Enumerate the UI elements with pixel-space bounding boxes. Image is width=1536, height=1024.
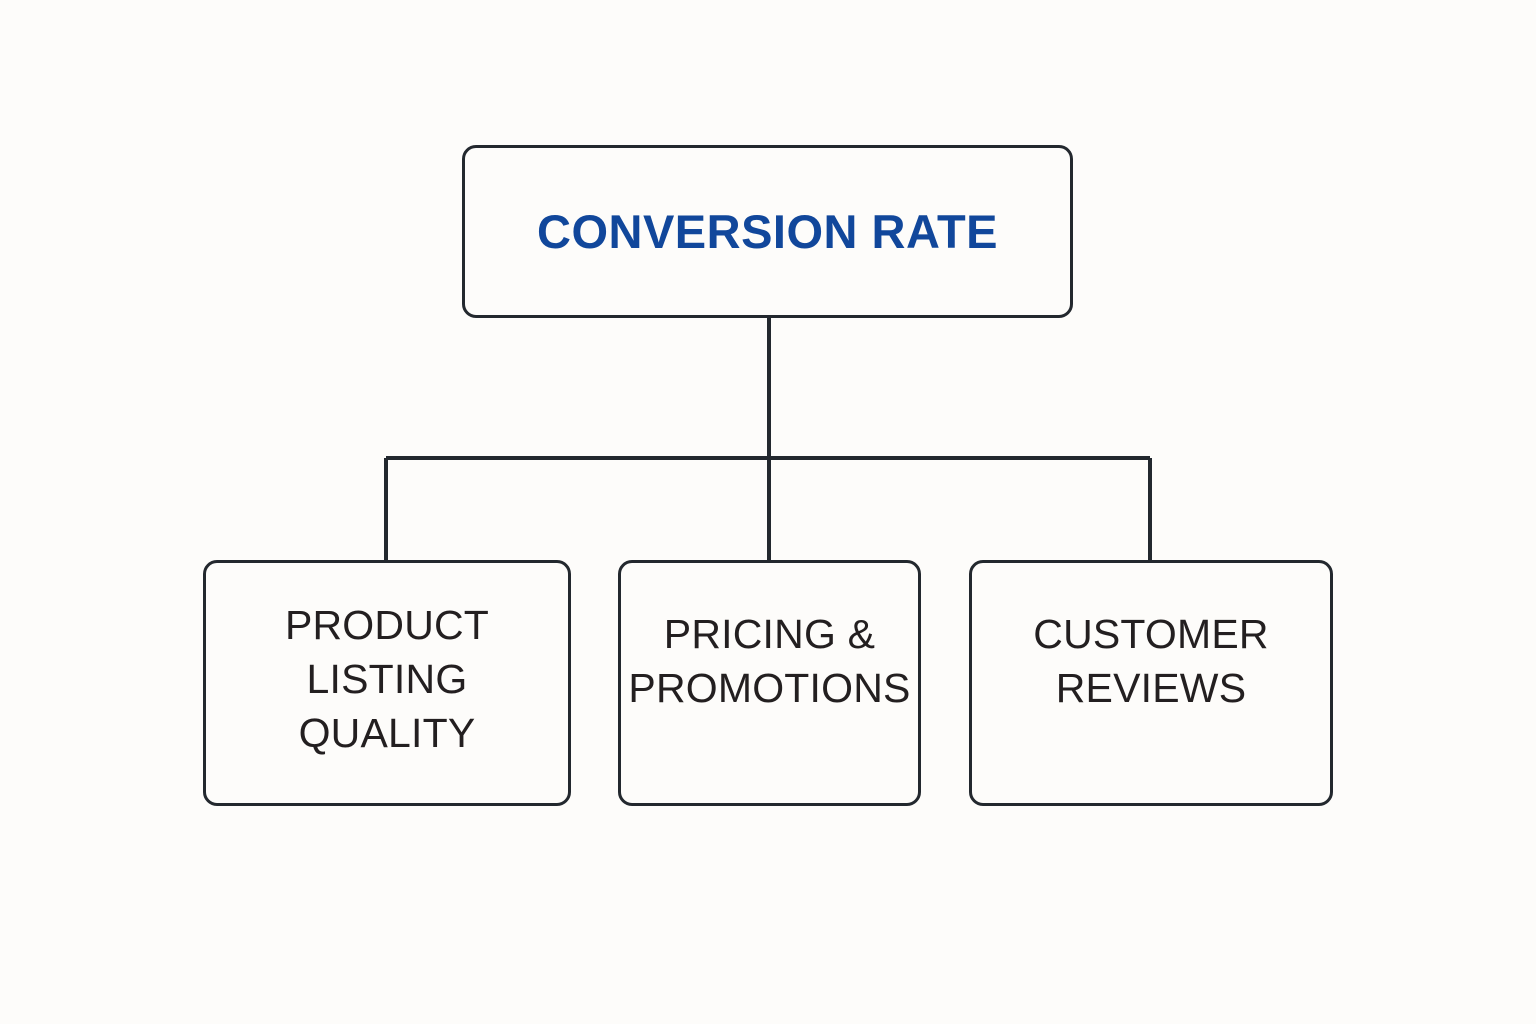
node-product-listing-quality-label: PRODUCT LISTING QUALITY (285, 598, 489, 760)
node-customer-reviews[interactable]: CUSTOMER REVIEWS (969, 560, 1333, 806)
node-conversion-rate[interactable]: CONVERSION RATE (462, 145, 1073, 318)
diagram-canvas: CONVERSION RATE PRODUCT LISTING QUALITY … (0, 0, 1536, 1024)
node-customer-reviews-label: CUSTOMER REVIEWS (1033, 607, 1268, 715)
node-conversion-rate-label: CONVERSION RATE (537, 206, 998, 258)
node-pricing-and-promotions-label: PRICING & PROMOTIONS (628, 607, 910, 715)
node-pricing-and-promotions[interactable]: PRICING & PROMOTIONS (618, 560, 921, 806)
node-product-listing-quality[interactable]: PRODUCT LISTING QUALITY (203, 560, 571, 806)
